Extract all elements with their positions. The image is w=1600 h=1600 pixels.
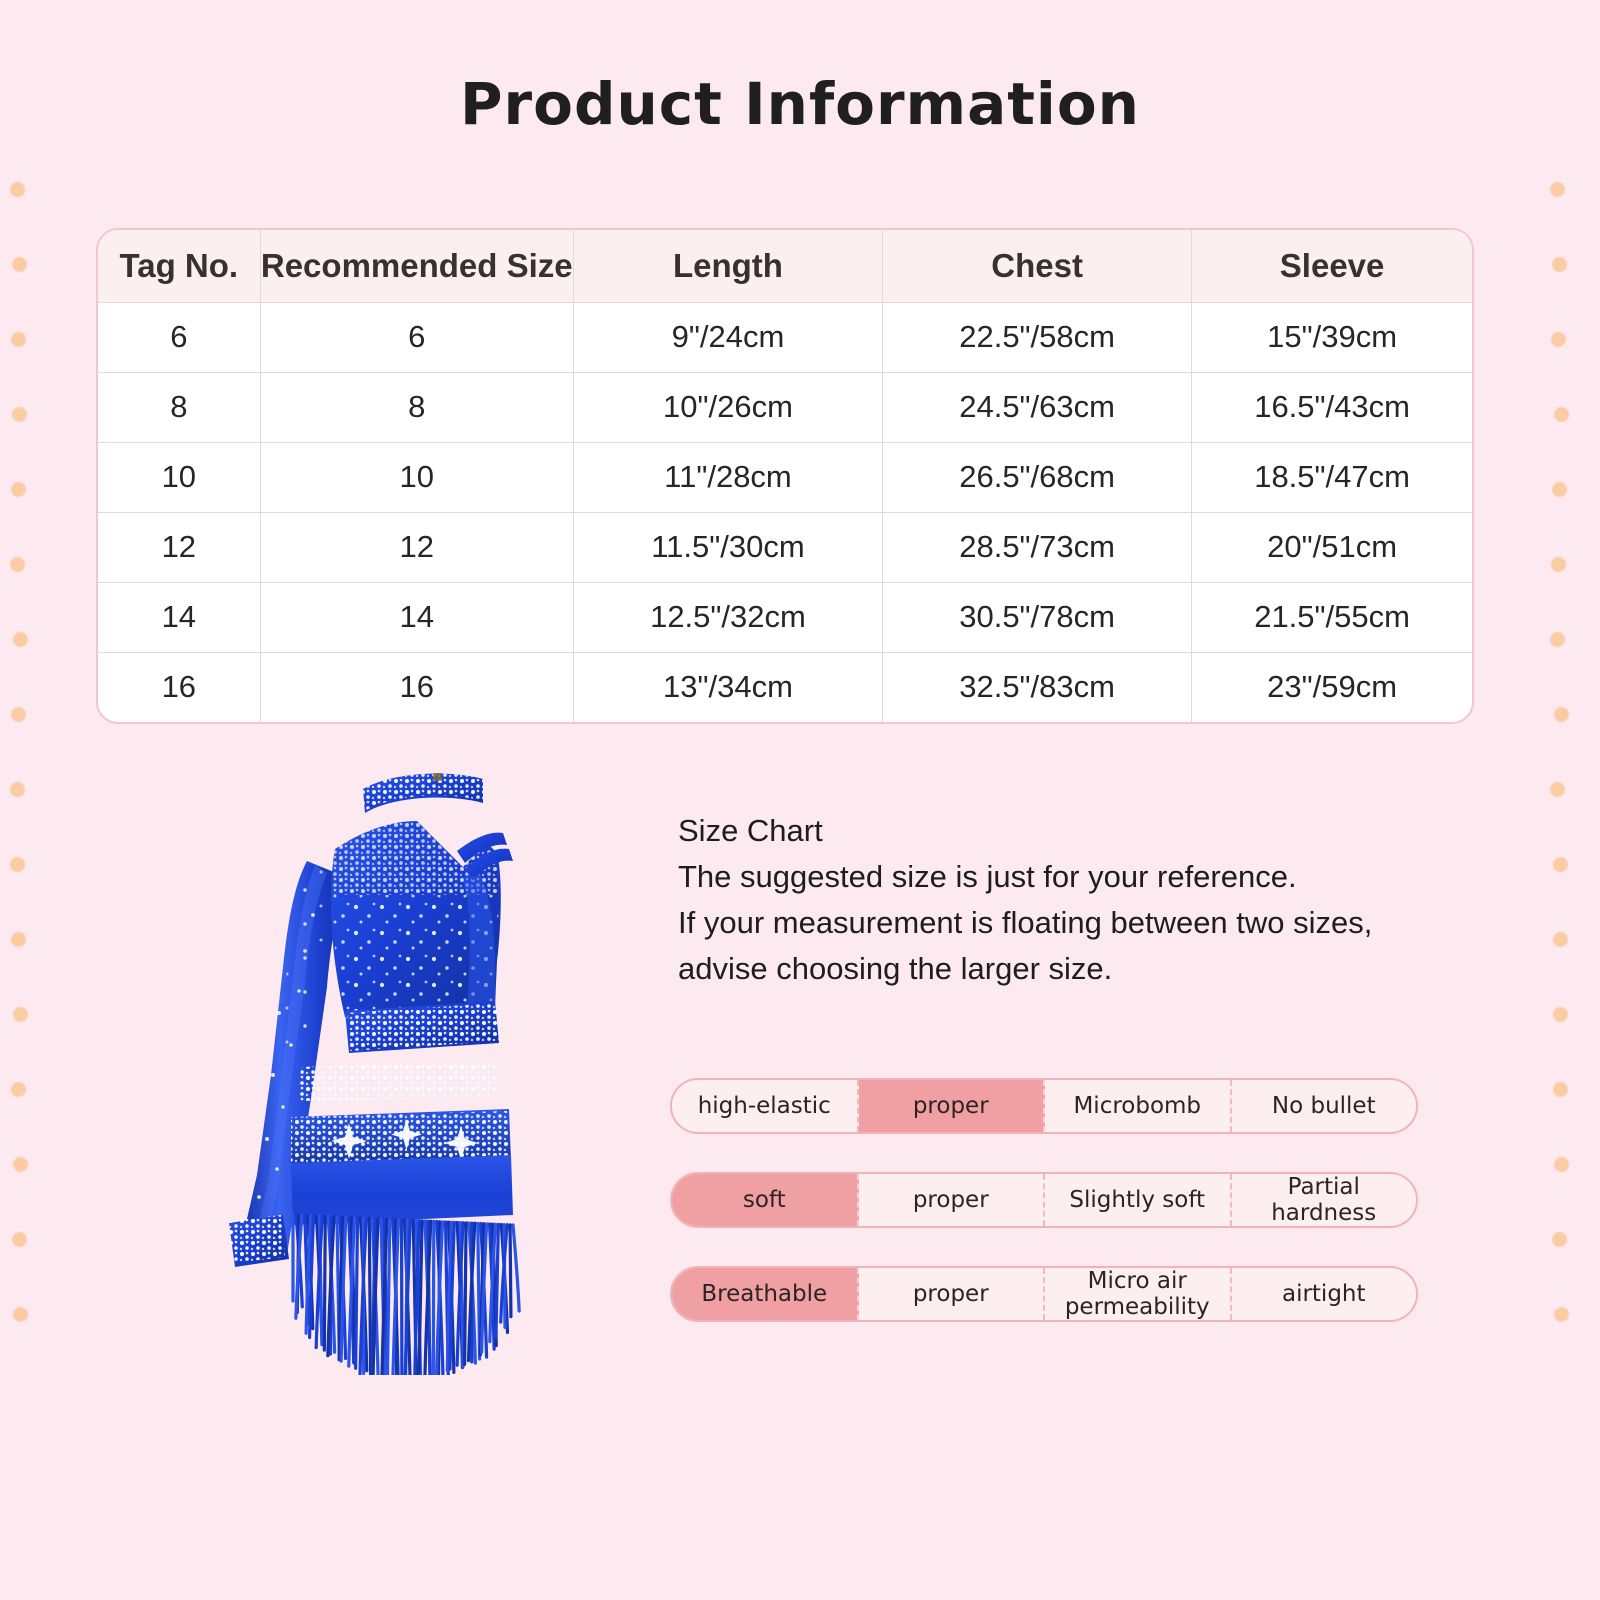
cell-tag-no: 12 xyxy=(98,512,260,582)
table-row: 161613"/34cm32.5"/83cm23"/59cm xyxy=(98,652,1472,722)
size-table: Tag No. Recommended Size Length Chest Sl… xyxy=(98,230,1472,722)
cell-sleeve: 23"/59cm xyxy=(1192,652,1472,722)
decorative-dot xyxy=(13,1307,28,1322)
decorative-dot xyxy=(11,332,26,347)
fringe-skirt xyxy=(285,1105,519,1375)
decorative-dot xyxy=(10,857,25,872)
cell-recommended-size: 10 xyxy=(260,442,573,512)
decorative-dot xyxy=(1553,932,1568,947)
table-row: 669"/24cm22.5"/58cm15"/39cm xyxy=(98,302,1472,372)
fringe-strand xyxy=(433,1221,434,1375)
property-cell[interactable]: high-elastic xyxy=(672,1080,859,1132)
cell-chest: 28.5"/73cm xyxy=(883,512,1192,582)
decorative-dot xyxy=(12,407,27,422)
cell-length: 13"/34cm xyxy=(573,652,882,722)
fringe-strand xyxy=(465,1223,466,1364)
column-header-sleeve: Sleeve xyxy=(1192,230,1472,302)
decorative-dot xyxy=(10,782,25,797)
cell-tag-no: 8 xyxy=(98,372,260,442)
decorative-dot xyxy=(1550,632,1565,647)
cell-sleeve: 15"/39cm xyxy=(1192,302,1472,372)
cell-sleeve: 20"/51cm xyxy=(1192,512,1472,582)
decorative-dot xyxy=(1553,1007,1568,1022)
size-chart-line-1: The suggested size is just for your refe… xyxy=(678,854,1438,900)
cell-sleeve: 18.5"/47cm xyxy=(1192,442,1472,512)
size-chart-heading: Size Chart xyxy=(678,808,1438,854)
fringe-strand xyxy=(356,1218,358,1368)
column-header-tag-no: Tag No. xyxy=(98,230,260,302)
cell-tag-no: 16 xyxy=(98,652,260,722)
cell-sleeve: 16.5"/43cm xyxy=(1192,372,1472,442)
decorative-dot xyxy=(10,557,25,572)
decorative-dot xyxy=(11,482,26,497)
decorative-dot xyxy=(1550,182,1565,197)
fringe-strand xyxy=(324,1216,325,1350)
decorative-dot xyxy=(12,1232,27,1247)
property-cell[interactable]: proper xyxy=(859,1268,1046,1320)
table-header-row: Tag No. Recommended Size Length Chest Sl… xyxy=(98,230,1472,302)
property-cell[interactable]: airtight xyxy=(1232,1268,1417,1320)
property-bar-breathability: BreathableproperMicro air permeabilityai… xyxy=(670,1266,1418,1322)
decorative-dot xyxy=(1553,857,1568,872)
decorative-dot xyxy=(13,1007,28,1022)
decorative-dot xyxy=(1554,707,1569,722)
property-cell[interactable]: Micro air permeability xyxy=(1045,1268,1232,1320)
decorative-dot xyxy=(1551,332,1566,347)
property-cell-active[interactable]: Breathable xyxy=(672,1268,859,1320)
decorative-dots-right xyxy=(1550,0,1590,1600)
decorative-dot xyxy=(10,182,25,197)
size-table-container: Tag No. Recommended Size Length Chest Sl… xyxy=(96,228,1474,724)
cell-sleeve: 21.5"/55cm xyxy=(1192,582,1472,652)
decorative-dot xyxy=(1554,1307,1569,1322)
decorative-dot xyxy=(11,707,26,722)
size-chart-line-2: If your measurement is floating between … xyxy=(678,900,1438,946)
page-title: Product Information xyxy=(0,70,1600,138)
table-row: 141412.5"/32cm30.5"/78cm21.5"/55cm xyxy=(98,582,1472,652)
fringe-strand xyxy=(510,1225,511,1317)
property-cell[interactable]: No bullet xyxy=(1232,1080,1417,1132)
cell-tag-no: 14 xyxy=(98,582,260,652)
property-bar-softness: softproperSlightly softPartial hardness xyxy=(670,1172,1418,1228)
decorative-dot xyxy=(1554,407,1569,422)
cell-chest: 22.5"/58cm xyxy=(883,302,1192,372)
decorative-dot xyxy=(1553,1082,1568,1097)
cell-length: 12.5"/32cm xyxy=(573,582,882,652)
decorative-dot xyxy=(11,932,26,947)
choker xyxy=(355,765,495,821)
cell-chest: 32.5"/83cm xyxy=(883,652,1192,722)
property-cell-active[interactable]: soft xyxy=(672,1174,859,1226)
cell-recommended-size: 6 xyxy=(260,302,573,372)
decorative-dot xyxy=(1552,257,1567,272)
decorative-dot xyxy=(1551,557,1566,572)
cell-recommended-size: 8 xyxy=(260,372,573,442)
property-cell-active[interactable]: proper xyxy=(859,1080,1046,1132)
cell-chest: 24.5"/63cm xyxy=(883,372,1192,442)
decorative-dot xyxy=(13,1157,28,1172)
product-image-dance-outfit xyxy=(195,745,595,1375)
size-chart-line-3: advise choosing the larger size. xyxy=(678,946,1438,992)
cell-length: 9"/24cm xyxy=(573,302,882,372)
decorative-dot xyxy=(1554,1157,1569,1172)
cell-recommended-size: 14 xyxy=(260,582,573,652)
property-bar-elasticity: high-elasticproperMicrobombNo bullet xyxy=(670,1078,1418,1134)
fringe-strand xyxy=(496,1224,498,1337)
property-cell[interactable]: proper xyxy=(859,1174,1046,1226)
decorative-dot xyxy=(1552,482,1567,497)
fringe-strand xyxy=(513,1225,519,1311)
property-cell[interactable]: Partial hardness xyxy=(1232,1174,1417,1226)
table-row: 121211.5"/30cm28.5"/73cm20"/51cm xyxy=(98,512,1472,582)
table-row: 101011"/28cm26.5"/68cm18.5"/47cm xyxy=(98,442,1472,512)
cell-length: 11"/28cm xyxy=(573,442,882,512)
decorative-dots-left xyxy=(10,0,50,1600)
decorative-dot xyxy=(12,257,27,272)
column-header-length: Length xyxy=(573,230,882,302)
cell-chest: 30.5"/78cm xyxy=(883,582,1192,652)
size-chart-note: Size Chart The suggested size is just fo… xyxy=(678,808,1438,992)
column-header-recommended-size: Recommended Size xyxy=(260,230,573,302)
decorative-dot xyxy=(13,632,28,647)
property-cell[interactable]: Slightly soft xyxy=(1045,1174,1232,1226)
fringe-strand xyxy=(369,1218,370,1375)
decorative-dot xyxy=(1550,782,1565,797)
column-header-chest: Chest xyxy=(883,230,1192,302)
cell-length: 10"/26cm xyxy=(573,372,882,442)
cell-recommended-size: 12 xyxy=(260,512,573,582)
cell-tag-no: 6 xyxy=(98,302,260,372)
property-cell[interactable]: Microbomb xyxy=(1045,1080,1232,1132)
table-row: 8810"/26cm24.5"/63cm16.5"/43cm xyxy=(98,372,1472,442)
cell-chest: 26.5"/68cm xyxy=(883,442,1192,512)
decorative-dot xyxy=(1552,1232,1567,1247)
cell-tag-no: 10 xyxy=(98,442,260,512)
decorative-dot xyxy=(11,1082,26,1097)
property-bars: high-elasticproperMicrobombNo bulletsoft… xyxy=(670,1078,1418,1360)
cell-recommended-size: 16 xyxy=(260,652,573,722)
cell-length: 11.5"/30cm xyxy=(573,512,882,582)
